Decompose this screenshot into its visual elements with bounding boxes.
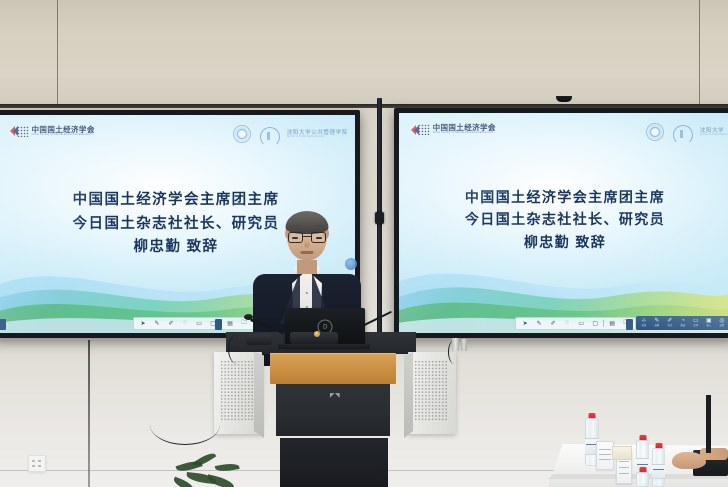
podium-wood-panel <box>270 353 396 384</box>
speaker-hair <box>286 211 329 234</box>
name-card-text-line <box>619 473 629 474</box>
conference-room-photo: 中国国土经济学会 China Society of Natural Resour… <box>0 0 728 487</box>
bottle-label-band <box>637 464 647 465</box>
attendee-forearm <box>700 448 728 460</box>
outlet-slot-2 <box>38 460 41 462</box>
decorative-plant <box>172 452 242 487</box>
plant-leaf-6 <box>215 462 240 473</box>
speaker-brow-left <box>289 225 301 227</box>
podium-speaker-right-side <box>404 352 413 438</box>
plant-leaf-4 <box>206 474 235 487</box>
outlet-slot-3 <box>32 465 35 467</box>
podium-speaker-right-grill <box>414 360 448 422</box>
podium-cable-1 <box>228 334 247 364</box>
podium-speaker-left-side <box>254 352 264 438</box>
wall-power-outlet[interactable] <box>28 455 46 472</box>
lower-wall-seam <box>88 340 90 487</box>
wall-seam-right <box>699 0 700 108</box>
podium-emblem: ◤◥ <box>330 392 340 399</box>
name-card-text-line <box>599 459 611 460</box>
presenter-laptop-base <box>278 344 370 349</box>
right-display-panel[interactable]: 中国国土经济学会 China Society of Natural Resour… <box>394 108 728 338</box>
speaker-mouth <box>301 251 314 254</box>
microphone-base-left <box>246 334 272 345</box>
gooseneck-microphone-left-head <box>244 314 253 320</box>
plant-leaf-3 <box>192 450 216 469</box>
speaker-nose <box>304 239 310 248</box>
microphone-indicator-led <box>314 331 320 337</box>
outlet-slot-1 <box>32 460 35 462</box>
name-card-text-line <box>599 449 611 450</box>
ceiling-camera-icon <box>556 96 572 102</box>
wall-seam-left <box>57 0 58 108</box>
bottle-body <box>636 472 649 487</box>
bottle-label <box>652 464 665 479</box>
water-bottle-4 <box>636 472 649 487</box>
mic-stand-joint <box>375 212 384 224</box>
name-card-text-line <box>599 454 611 455</box>
water-bottle-3 <box>652 448 665 487</box>
podium-speaker-left-grill <box>220 360 254 422</box>
podium-front-lower <box>280 438 388 487</box>
right-display-bezel <box>394 108 728 338</box>
podium-cable-holder <box>452 338 459 351</box>
podium-cable-2 <box>150 404 220 445</box>
name-card-3 <box>612 446 632 460</box>
speaker-brow-right <box>313 225 325 227</box>
outlet-slot-4 <box>38 465 41 467</box>
name-card-text-line <box>619 461 629 462</box>
upper-wall-band <box>0 0 728 108</box>
background-monitor-edge <box>706 395 711 453</box>
podium-cable-holder-2 <box>461 339 467 351</box>
name-card-text-line <box>619 467 629 468</box>
speaker-neck <box>297 260 317 274</box>
bottle-label-band <box>653 469 663 470</box>
